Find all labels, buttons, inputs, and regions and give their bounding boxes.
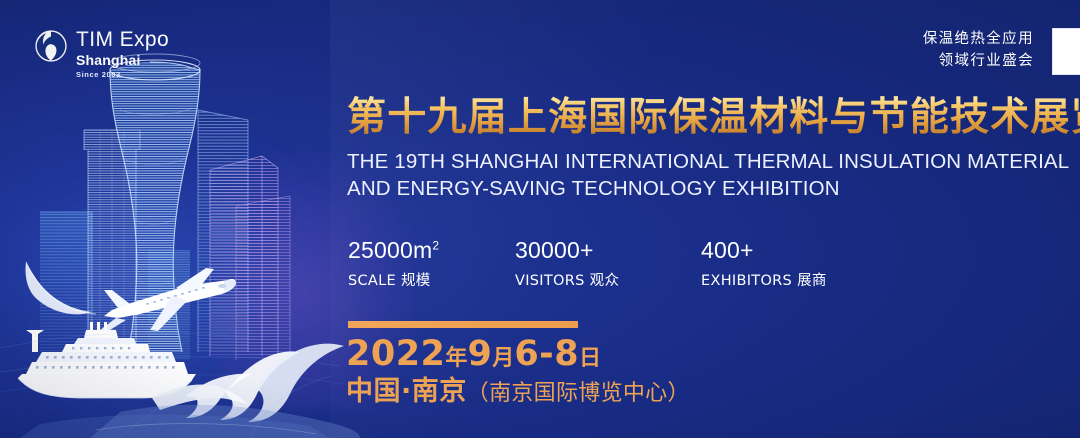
tagline: 保温绝热全应用 领域行业盛会 (923, 28, 1034, 72)
swirl-circle-icon (34, 29, 68, 63)
stat-scale: 25000m2 SCALE规模 (348, 238, 515, 290)
logo-text-block: TIM Expo Shanghai Since 2003 (76, 28, 169, 79)
brand-logo[interactable]: TIM Expo Shanghai Since 2003 (34, 28, 169, 79)
event-venue: 中国·南京（南京国际博览中心） (346, 378, 690, 405)
logo-title: TIM Expo (76, 29, 169, 50)
stat-scale-value: 25000m2 (348, 238, 515, 264)
tower-right-purple-2 (232, 192, 294, 366)
stat-scale-label: SCALE规模 (348, 269, 515, 290)
qr-code-placeholder[interactable] (1052, 28, 1080, 75)
stat-exhibitors-value: 400+ (701, 238, 827, 264)
date-divider (348, 321, 578, 328)
page-title: 第十九届上海国际保温材料与节能技术展览会 (347, 96, 1080, 140)
stat-visitors: 30000+ VISITORS观众 (515, 238, 701, 290)
subtitle-line-2: AND ENERGY-SAVING TECHNOLOGY EXHIBITION (347, 175, 1069, 202)
stat-exhibitors: 400+ EXHIBITORS展商 (701, 238, 827, 290)
stat-visitors-value: 30000+ (515, 238, 701, 264)
subtitle-line-1: THE 19TH SHANGHAI INTERNATIONAL THERMAL … (347, 148, 1069, 175)
stats-row: 25000m2 SCALE规模 30000+ VISITORS观众 400+ E… (348, 238, 827, 290)
tagline-line-2: 领域行业盛会 (923, 50, 1034, 72)
tagline-line-1: 保温绝热全应用 (923, 28, 1034, 50)
subtitle-english: THE 19TH SHANGHAI INTERNATIONAL THERMAL … (347, 148, 1069, 202)
exhibition-banner: TIM Expo Shanghai Since 2003 保温绝热全应用 领域行… (0, 0, 1080, 438)
stat-exhibitors-label: EXHIBITORS展商 (701, 269, 827, 290)
stat-visitors-label: VISITORS观众 (515, 269, 701, 290)
event-date: 2022年9月6-8日 (346, 337, 601, 372)
logo-city: Shanghai (76, 53, 169, 67)
logo-since: Since 2003 (76, 71, 169, 79)
